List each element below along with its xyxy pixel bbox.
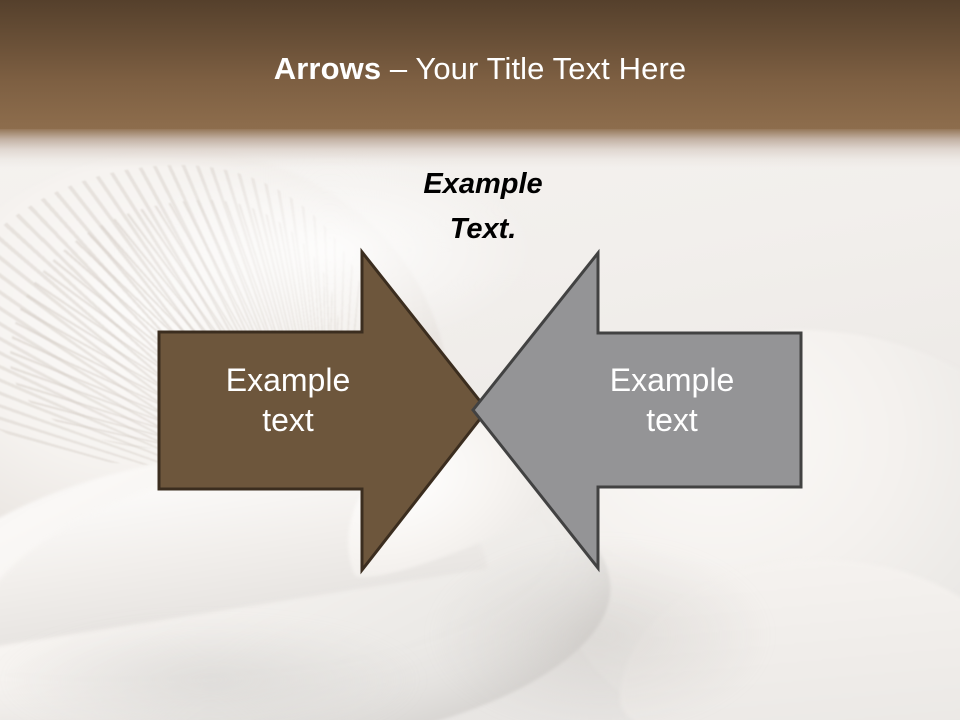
- arrow-diagram: [0, 0, 960, 720]
- slide-canvas: Arrows – Your Title Text Here Example Te…: [0, 0, 960, 720]
- arrow-right-brown-label-line-2: text: [188, 400, 388, 440]
- arrow-left-gray-label-line-2: text: [572, 400, 772, 440]
- arrow-right-brown-label-line-1: Example: [188, 360, 388, 400]
- arrow-left-gray-label-line-1: Example: [572, 360, 772, 400]
- arrow-left-gray-label: Example text: [572, 360, 772, 440]
- arrow-right-brown-label: Example text: [188, 360, 388, 440]
- arrow-shapes-svg: [0, 0, 960, 720]
